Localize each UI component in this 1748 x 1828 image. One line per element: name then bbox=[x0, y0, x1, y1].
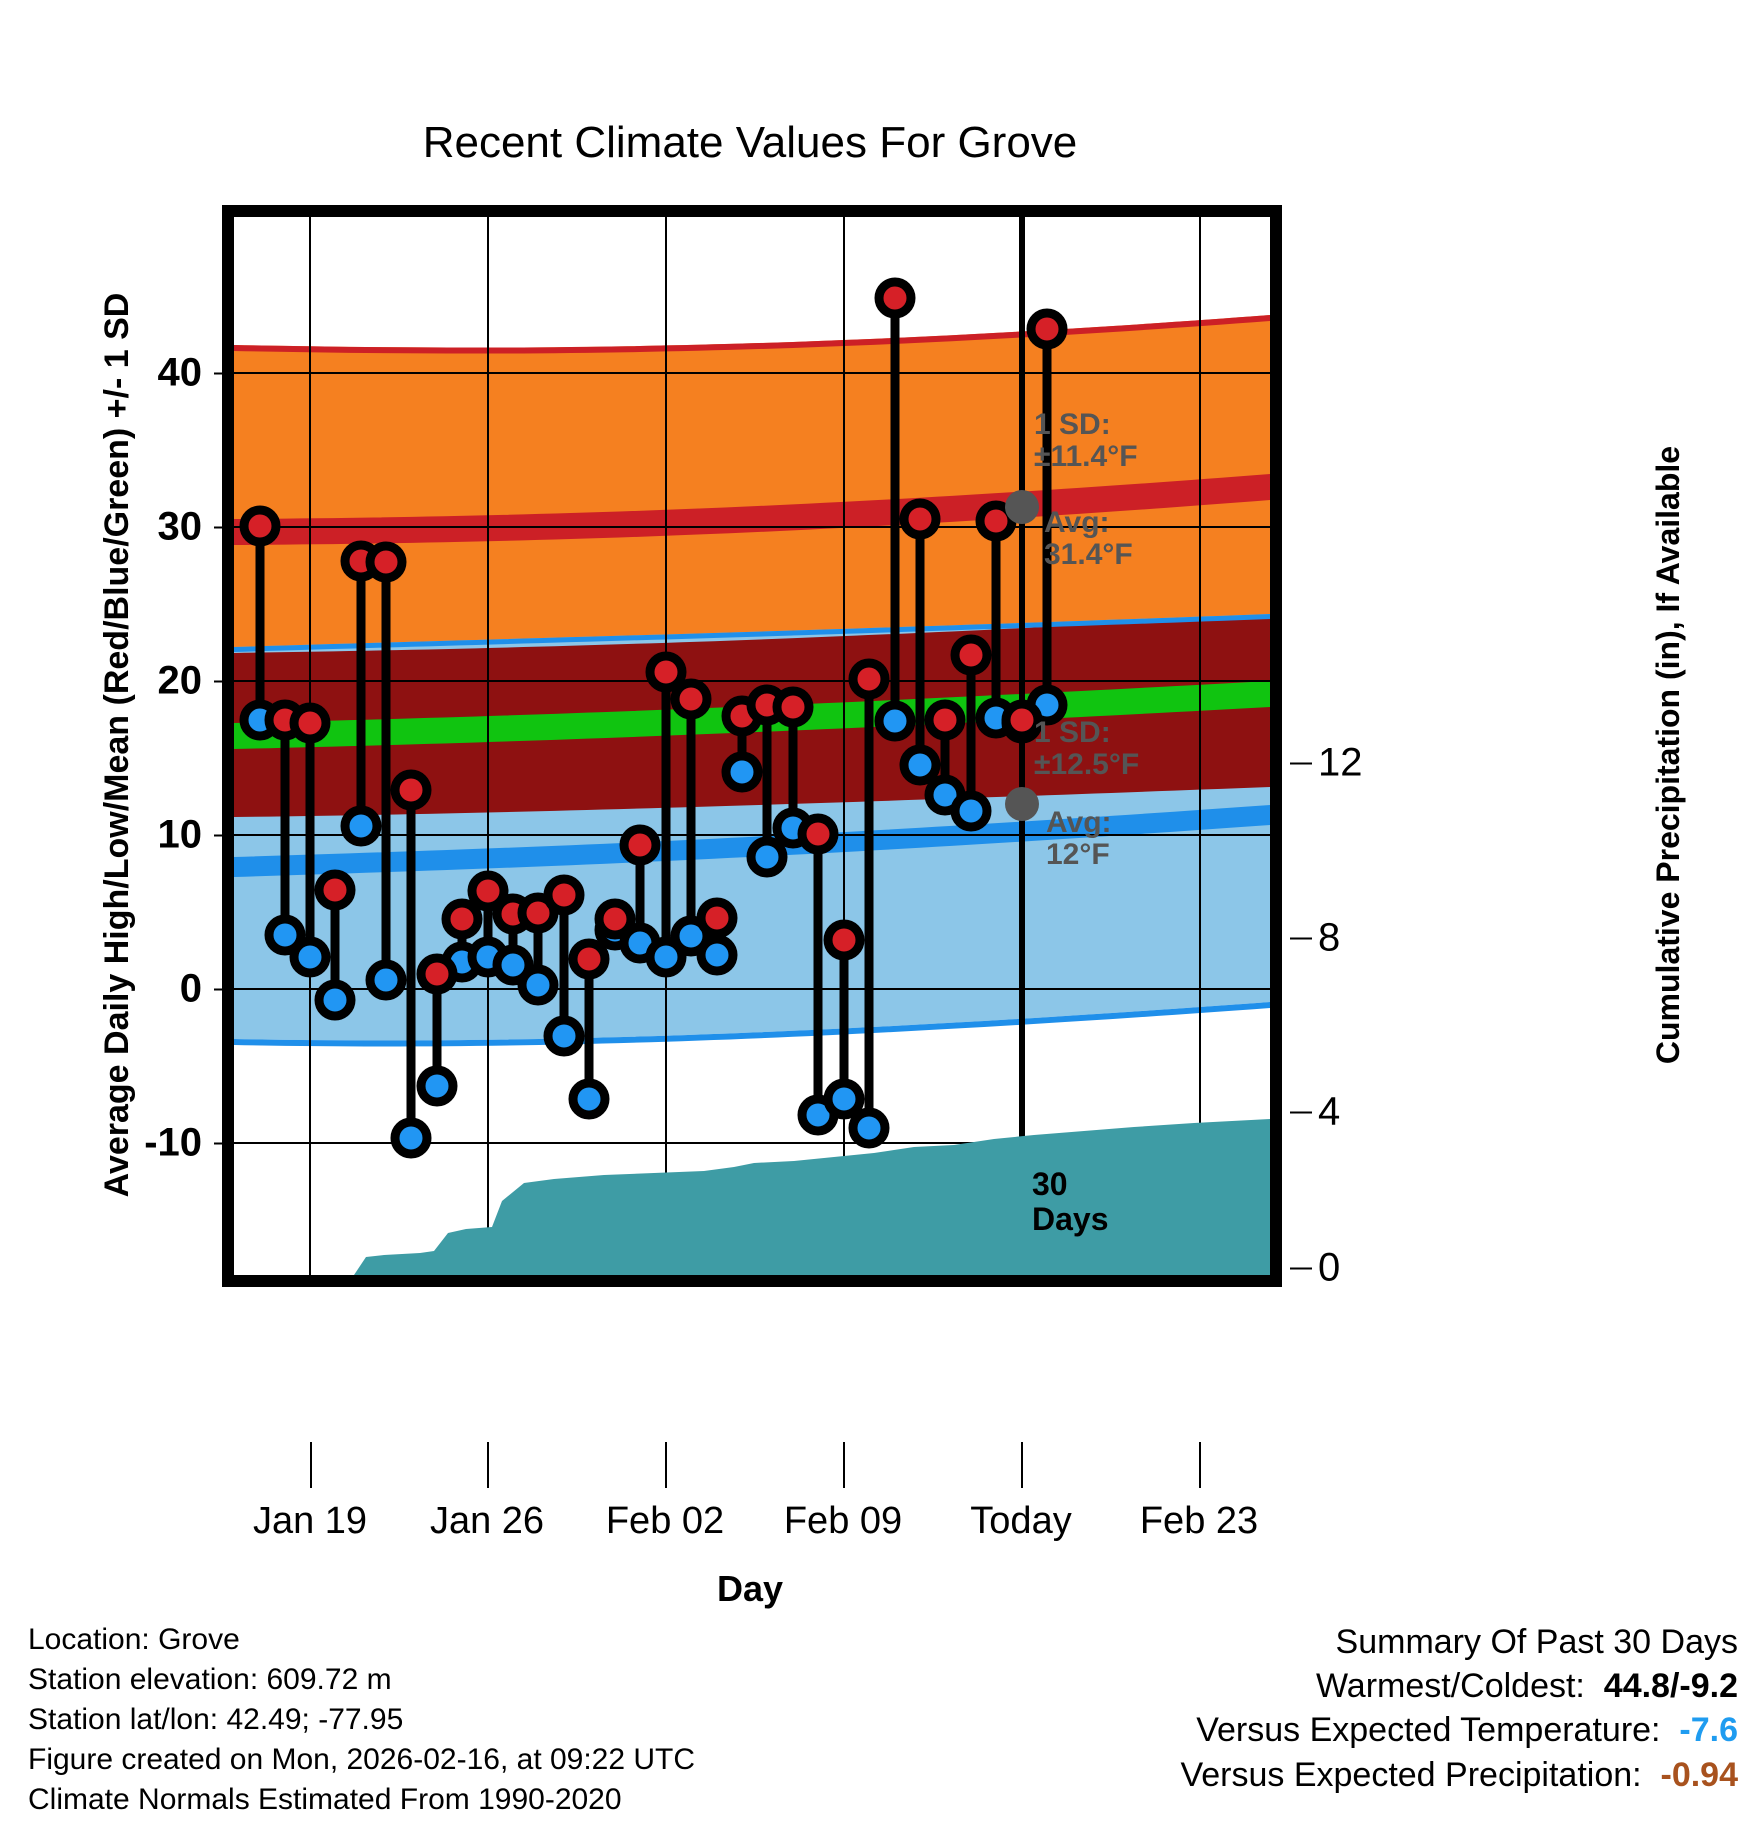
tick-mark bbox=[487, 1442, 489, 1488]
vs-precipitation-label: Versus Expected Precipitation: bbox=[1180, 1756, 1641, 1794]
x-tick-feb-23: Feb 23 bbox=[1069, 1500, 1329, 1543]
summary-warmest-coldest: Warmest/Coldest: 44.8/-9.2 bbox=[1180, 1664, 1738, 1708]
summary-heading: Summary Of Past 30 Days bbox=[1180, 1620, 1738, 1664]
tick-mark bbox=[1290, 1267, 1312, 1269]
y-tick-right-4: 4 bbox=[1318, 1090, 1428, 1135]
y-tick-right-0: 0 bbox=[1318, 1246, 1428, 1291]
vs-precipitation-value: -0.94 bbox=[1661, 1756, 1739, 1794]
warmest-coldest-value: 44.8/-9.2 bbox=[1604, 1667, 1738, 1705]
summary-vs-temperature: Versus Expected Temperature: -7.6 bbox=[1180, 1708, 1738, 1752]
today-low-avg-marker bbox=[1005, 787, 1039, 821]
y-tick-right-12: 12 bbox=[1318, 741, 1428, 786]
warmest-coldest-label: Warmest/Coldest: bbox=[1316, 1667, 1585, 1705]
tick-mark bbox=[1290, 762, 1312, 764]
y-tick-right-8: 8 bbox=[1318, 916, 1428, 961]
chart-title: Recent Climate Values For Grove bbox=[0, 118, 1500, 168]
today-high-avg-marker bbox=[1005, 490, 1039, 524]
summary-block: Summary Of Past 30 Days Warmest/Coldest:… bbox=[1180, 1620, 1738, 1797]
y-tick-left-20: 20 bbox=[62, 659, 202, 704]
tick-mark bbox=[1199, 1442, 1201, 1488]
high-sd-annotation: 1 SD: ±11.4°F bbox=[1034, 409, 1138, 474]
station-elevation: Station elevation: 609.72 m bbox=[28, 1660, 695, 1700]
y-axis-label-right: Cumulative Precipitation (in), If Availa… bbox=[1650, 255, 1687, 1255]
tick-mark bbox=[1290, 1111, 1312, 1113]
high-avg-annotation: Avg: 31.4°F bbox=[1044, 507, 1133, 572]
y-tick-left-30: 30 bbox=[62, 505, 202, 550]
vs-temperature-label: Versus Expected Temperature: bbox=[1196, 1711, 1660, 1749]
low-avg-annotation: Avg: 12°F bbox=[1046, 807, 1112, 872]
summary-vs-precipitation: Versus Expected Precipitation: -0.94 bbox=[1180, 1753, 1738, 1797]
y-tick-left-40: 40 bbox=[62, 351, 202, 396]
figure-created-timestamp: Figure created on Mon, 2026-02-16, at 09… bbox=[28, 1740, 695, 1780]
tick-mark bbox=[843, 1442, 845, 1488]
tick-mark bbox=[310, 1442, 312, 1488]
station-latlon: Station lat/lon: 42.49; -77.95 bbox=[28, 1700, 695, 1740]
y-tick-left-10: 10 bbox=[62, 813, 202, 858]
y-tick-left-0: 0 bbox=[62, 967, 202, 1012]
tick-mark bbox=[1290, 937, 1312, 939]
y-tick-left-minus10: -10 bbox=[62, 1121, 202, 1166]
climate-normals-period: Climate Normals Estimated From 1990-2020 bbox=[28, 1780, 695, 1820]
climate-figure: Recent Climate Values For Grove Average … bbox=[0, 0, 1748, 1828]
vs-temperature-value: -7.6 bbox=[1679, 1711, 1738, 1749]
station-info-block: Location: Grove Station elevation: 609.7… bbox=[28, 1620, 695, 1819]
station-location: Location: Grove bbox=[28, 1620, 695, 1660]
tick-mark bbox=[665, 1442, 667, 1488]
precipitation-window-annotation: 30 Days bbox=[1032, 1167, 1109, 1236]
tick-mark bbox=[1021, 1442, 1023, 1488]
plot-area: 1 SD: ±11.4°F Avg: 31.4°F 1 SD: ±12.5°F … bbox=[222, 205, 1282, 1287]
low-sd-annotation: 1 SD: ±12.5°F bbox=[1034, 717, 1139, 782]
x-axis-label: Day bbox=[220, 1568, 1280, 1610]
